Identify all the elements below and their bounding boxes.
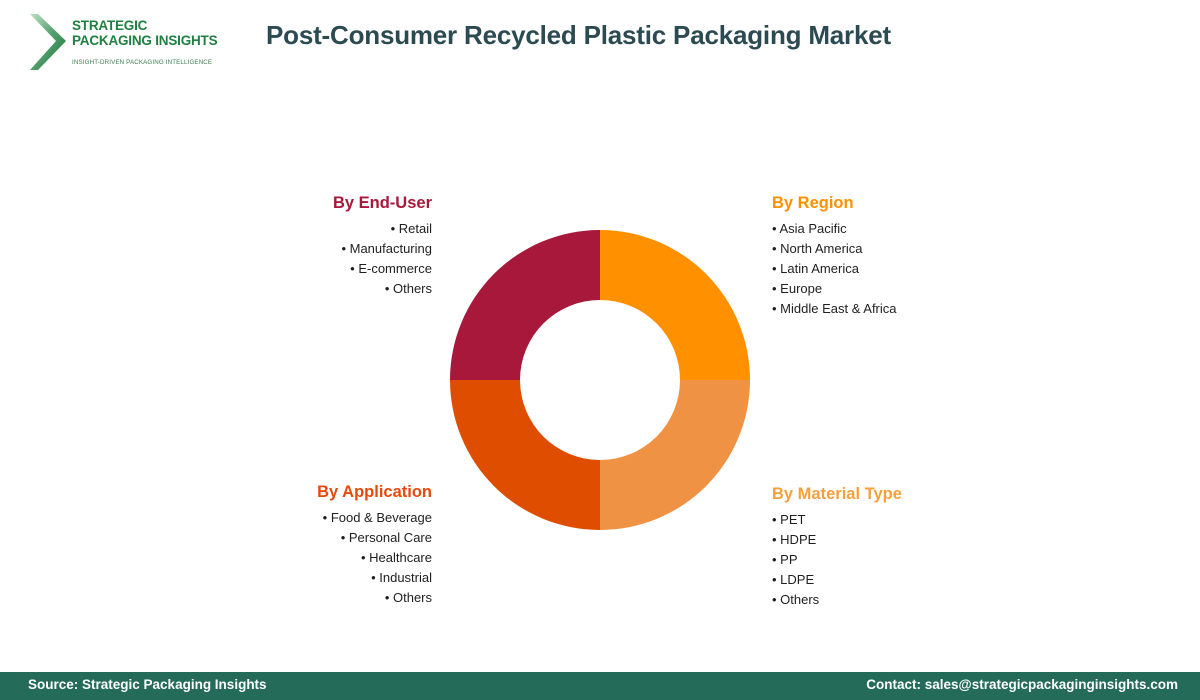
list-item-label: LDPE — [780, 572, 814, 587]
list-item: • Others — [192, 279, 432, 299]
logo-line-2: PACKAGING INSIGHTS — [72, 33, 200, 48]
list-item-label: North America — [780, 241, 862, 256]
list-item: • Others — [186, 588, 432, 608]
segment-group-material-type: By Material Type • PET• HDPE• PP• LDPE• … — [772, 485, 1032, 610]
list-item: • Asia Pacific — [772, 219, 1032, 239]
segment-group-application: By Application • Food & Beverage• Person… — [186, 483, 432, 608]
donut-chart — [450, 230, 750, 530]
bullet-icon: • — [361, 550, 369, 565]
bullet-icon: • — [341, 241, 349, 256]
segment-list-region: • Asia Pacific• North America• Latin Ame… — [772, 219, 1032, 319]
bullet-icon: • — [391, 221, 399, 236]
list-item-label: Europe — [780, 281, 822, 296]
segment-heading-application: By Application — [186, 483, 432, 502]
list-item: • Personal Care — [186, 528, 432, 548]
list-item-label: E-commerce — [358, 261, 432, 276]
donut-segment-application[interactable] — [450, 380, 600, 530]
donut-segment-end-user[interactable] — [450, 230, 600, 380]
list-item: • Retail — [192, 219, 432, 239]
logo-tagline: INSIGHT-DRIVEN PACKAGING INTELLIGENCE — [72, 59, 200, 66]
bullet-icon: • — [772, 241, 780, 256]
page-header: STRATEGIC PACKAGING INSIGHTS INSIGHT-DRI… — [0, 0, 1200, 92]
bullet-icon: • — [772, 301, 780, 316]
list-item: • HDPE — [772, 530, 1032, 550]
donut-segment-region[interactable] — [600, 230, 750, 380]
page-footer: Source: Strategic Packaging Insights Con… — [0, 672, 1200, 700]
list-item-label: Middle East & Africa — [780, 301, 896, 316]
chevron-right-icon — [28, 14, 68, 70]
segment-heading-material-type: By Material Type — [772, 485, 1032, 504]
bullet-icon: • — [323, 510, 331, 525]
segment-group-region: By Region • Asia Pacific• North America•… — [772, 194, 1032, 319]
list-item-label: Healthcare — [369, 550, 432, 565]
donut-segment-material-type[interactable] — [600, 380, 750, 530]
segment-heading-end-user: By End-User — [192, 194, 432, 213]
footer-source-text: Source: Strategic Packaging Insights — [28, 677, 267, 692]
list-item-label: Personal Care — [349, 530, 432, 545]
list-item-label: Others — [393, 590, 432, 605]
logo-line-1: STRATEGIC — [72, 18, 200, 33]
list-item: • E-commerce — [192, 259, 432, 279]
bullet-icon: • — [772, 532, 780, 547]
list-item: • PP — [772, 550, 1032, 570]
list-item: • LDPE — [772, 570, 1032, 590]
brand-logo: STRATEGIC PACKAGING INSIGHTS INSIGHT-DRI… — [28, 12, 198, 74]
list-item: • Middle East & Africa — [772, 299, 1032, 319]
segment-list-material-type: • PET• HDPE• PP• LDPE• Others — [772, 510, 1032, 610]
list-item: • Europe — [772, 279, 1032, 299]
page-title: Post-Consumer Recycled Plastic Packaging… — [266, 20, 891, 51]
bullet-icon: • — [772, 512, 780, 527]
bullet-icon: • — [772, 281, 780, 296]
list-item-label: Latin America — [780, 261, 859, 276]
list-item: • Latin America — [772, 259, 1032, 279]
bullet-icon: • — [772, 261, 780, 276]
list-item: • Manufacturing — [192, 239, 432, 259]
footer-contact-text: Contact: sales@strategicpackaginginsight… — [866, 677, 1178, 692]
list-item-label: Manufacturing — [350, 241, 432, 256]
segment-list-application: • Food & Beverage• Personal Care• Health… — [186, 508, 432, 608]
list-item-label: Industrial — [379, 570, 432, 585]
list-item: • Others — [772, 590, 1032, 610]
list-item: • Industrial — [186, 568, 432, 588]
bullet-icon: • — [341, 530, 349, 545]
segment-heading-region: By Region — [772, 194, 1032, 213]
segment-group-end-user: By End-User • Retail• Manufacturing• E-c… — [192, 194, 432, 299]
list-item: • Healthcare — [186, 548, 432, 568]
bullet-icon: • — [772, 572, 780, 587]
list-item-label: PET — [780, 512, 805, 527]
list-item-label: Others — [780, 592, 819, 607]
list-item: • Food & Beverage — [186, 508, 432, 528]
list-item: • PET — [772, 510, 1032, 530]
list-item-label: Retail — [399, 221, 432, 236]
segment-list-end-user: • Retail• Manufacturing• E-commerce• Oth… — [192, 219, 432, 299]
list-item-label: Food & Beverage — [331, 510, 432, 525]
list-item-label: PP — [780, 552, 797, 567]
list-item-label: Others — [393, 281, 432, 296]
bullet-icon: • — [385, 281, 393, 296]
list-item-label: HDPE — [780, 532, 816, 547]
list-item: • North America — [772, 239, 1032, 259]
bullet-icon: • — [385, 590, 393, 605]
logo-wordmark: STRATEGIC PACKAGING INSIGHTS INSIGHT-DRI… — [72, 18, 200, 66]
list-item-label: Asia Pacific — [779, 221, 846, 236]
bullet-icon: • — [772, 592, 780, 607]
bullet-icon: • — [772, 552, 780, 567]
